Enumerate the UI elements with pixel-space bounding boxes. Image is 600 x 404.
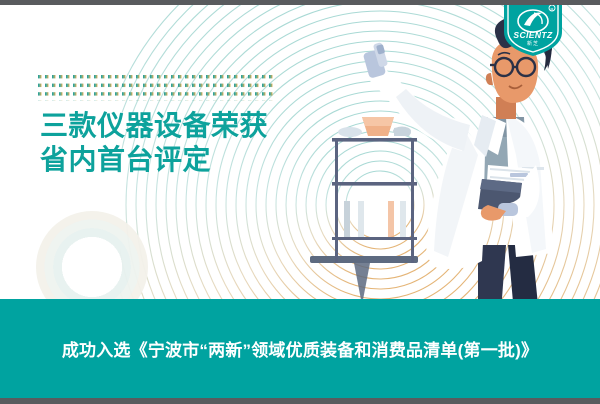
test-tube-group (363, 42, 388, 79)
bottom-chrome-bar (0, 398, 600, 404)
poster-canvas: 三款仪器设备荣获 省内首台评定 R SCIENTZ 新芝 成功入选《宁波市“两新… (0, 0, 600, 404)
svg-text:R: R (551, 7, 554, 12)
scientist-figure (363, 16, 554, 329)
top-chrome-bar (0, 0, 600, 5)
banner-text: 成功入选《宁波市“两新”领域优质装备和消费品清单(第一批)》 (62, 336, 538, 361)
headline: 三款仪器设备荣获 省内首台评定 (40, 109, 268, 177)
headline-line-1: 三款仪器设备荣获 (40, 109, 268, 143)
bottom-banner: 成功入选《宁波市“两新”领域优质装备和消费品清单(第一批)》 (0, 299, 600, 398)
scientz-logo[interactable]: R SCIENTZ 新芝 (504, 0, 562, 56)
lab-trolley-group (310, 117, 418, 305)
logo-shield-icon: R (504, 0, 562, 56)
headline-line-2: 省内首台评定 (40, 143, 268, 177)
halftone-dot-grid (38, 75, 276, 101)
